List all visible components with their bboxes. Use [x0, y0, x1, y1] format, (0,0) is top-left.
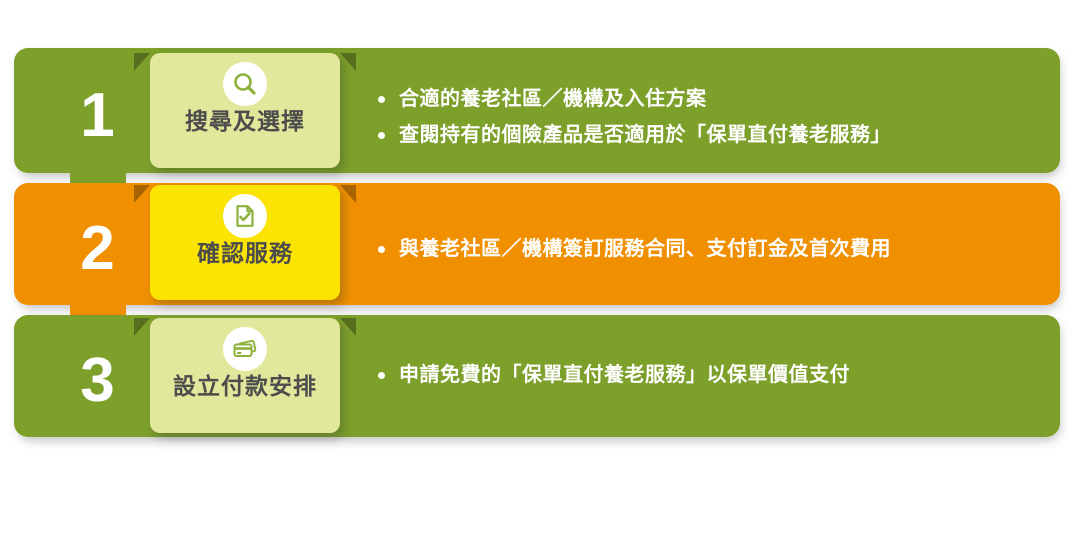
step-2-number: 2	[62, 218, 132, 280]
bullet-dot-icon	[378, 96, 385, 103]
step-2-card-title: 確認服務	[150, 241, 340, 266]
bullet-text: 申請免費的「保單直付養老服務」以保單價值支付	[399, 362, 850, 389]
step-1-card-title: 搜尋及選擇	[150, 109, 340, 134]
list-item: 申請免費的「保單直付養老服務」以保單價值支付	[378, 362, 1038, 389]
step-2-card[interactable]: 確認服務	[150, 185, 340, 300]
bullet-dot-icon	[378, 372, 385, 379]
step-3-card[interactable]: 設立付款安排	[150, 318, 340, 433]
search-icon	[223, 62, 267, 106]
step-3-card-fold-left	[134, 318, 150, 336]
bullet-dot-icon	[378, 132, 385, 139]
process-flow-infographic: 1 搜尋及選擇 合適的養老社區／機構及入住方案 查閱持有的個險產品是否適用於「保…	[0, 0, 1080, 550]
bullet-text: 查閱持有的個險產品是否適用於「保單直付養老服務」	[399, 122, 891, 149]
step-2-card-fold-left	[134, 185, 150, 203]
bullet-text: 與養老社區／機構簽訂服務合同、支付訂金及首次費用	[399, 236, 891, 263]
step-1-card-fold-left	[134, 53, 150, 71]
document-check-icon	[223, 194, 267, 238]
step-3-number: 3	[62, 350, 132, 412]
step-2-bullet-list: 與養老社區／機構簽訂服務合同、支付訂金及首次費用	[378, 236, 1038, 272]
list-item: 合適的養老社區／機構及入住方案	[378, 86, 1038, 113]
list-item: 與養老社區／機構簽訂服務合同、支付訂金及首次費用	[378, 236, 1038, 263]
bullet-dot-icon	[378, 246, 385, 253]
list-item: 查閱持有的個險產品是否適用於「保單直付養老服務」	[378, 122, 1038, 149]
step-3-card-title: 設立付款安排	[150, 374, 340, 399]
bullet-text: 合適的養老社區／機構及入住方案	[399, 86, 707, 113]
step-1-bullet-list: 合適的養老社區／機構及入住方案 查閱持有的個險產品是否適用於「保單直付養老服務」	[378, 86, 1038, 158]
step-1-card[interactable]: 搜尋及選擇	[150, 53, 340, 168]
step-1-number: 1	[62, 85, 132, 147]
payment-card-icon	[223, 327, 267, 371]
step-3-bullet-list: 申請免費的「保單直付養老服務」以保單價值支付	[378, 362, 1038, 398]
